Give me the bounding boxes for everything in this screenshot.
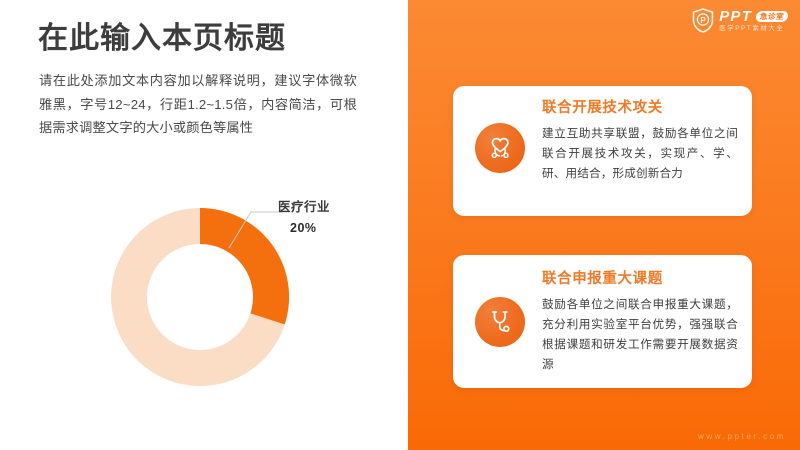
- card-text: 建立互助共享联盟，鼓励各单位之间联合开展技术攻关，实现产、学、研、用结合，形成创…: [542, 124, 738, 184]
- site-watermark: www.ppter.com: [698, 432, 786, 441]
- heart-stethoscope-icon: [475, 123, 525, 173]
- logo-primary-row: PPT 急诊室: [719, 9, 788, 24]
- right-orange-panel: P PPT 急诊室 医学PPT素材大全: [408, 0, 800, 450]
- logo-badge: 急诊室: [755, 11, 788, 22]
- card-title: 联合开展技术攻关: [542, 100, 738, 117]
- logo-subtitle: 医学PPT素材大全: [719, 26, 784, 32]
- shield-icon: P: [692, 8, 714, 33]
- card-body: 联合开展技术攻关 建立互助共享联盟，鼓励各单位之间联合开展技术攻关，实现产、学、…: [542, 100, 738, 184]
- page-subtext: 请在此处添加文本内容加以解释说明，建议字体微软雅黑，字号12~24，行距1.2~…: [39, 69, 357, 140]
- chart-leader-line: [225, 200, 285, 250]
- card-body: 联合申报重大课题 鼓励各单位之间联合申报重大课题，充分利用实验室平台优势，强强联…: [542, 271, 738, 375]
- chart-callout-value: 20%: [278, 220, 388, 236]
- left-content-panel: 在此输入本页标题 请在此处添加文本内容加以解释说明，建议字体微软雅黑，字号12~…: [0, 0, 408, 450]
- slide-canvas: 在此输入本页标题 请在此处添加文本内容加以解释说明，建议字体微软雅黑，字号12~…: [0, 0, 800, 450]
- chart-callout-label: 医疗行业 20%: [278, 199, 388, 237]
- feature-card[interactable]: 联合申报重大课题 鼓励各单位之间联合申报重大课题，充分利用实验室平台优势，强强联…: [453, 255, 752, 388]
- stethoscope-icon: [475, 297, 525, 347]
- chart-callout-name: 医疗行业: [278, 199, 388, 215]
- logo-brand-text: PPT: [719, 9, 752, 24]
- logo-text-block: PPT 急诊室 医学PPT素材大全: [719, 9, 788, 33]
- page-title: 在此输入本页标题: [38, 20, 286, 58]
- feature-card[interactable]: 联合开展技术攻关 建立互助共享联盟，鼓励各单位之间联合开展技术攻关，实现产、学、…: [453, 86, 752, 216]
- svg-text:P: P: [701, 16, 707, 25]
- brand-logo: P PPT 急诊室 医学PPT素材大全: [692, 8, 788, 33]
- card-text: 鼓励各单位之间联合申报重大课题，充分利用实验室平台优势，强强联合根据课题和研发工…: [542, 295, 738, 375]
- donut-hole: [147, 244, 253, 350]
- card-title: 联合申报重大课题: [542, 271, 738, 288]
